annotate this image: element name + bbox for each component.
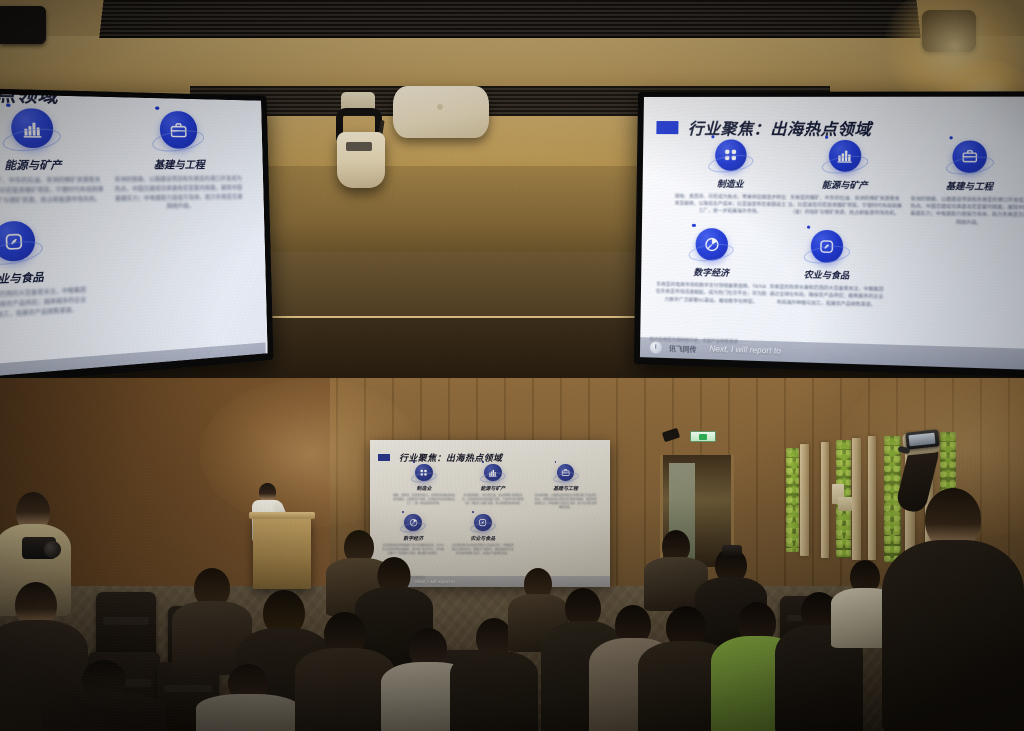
topic-digital-economy: 数字经济东南亚的电商市场和数字支付领域备受追捧。TikTok在东南亚市场迅速崛起… <box>651 227 772 306</box>
topic-infrastructure-engineering: 基建与工程非洲的铁路、公路建设项目和东南亚的港口开发成为热点。中国交建成功承建肯… <box>532 464 599 511</box>
orbit-ring <box>151 127 206 155</box>
plant-panel <box>786 448 799 552</box>
topic-icon-wrap <box>0 107 108 149</box>
slide-title: 行业聚焦：出海热点领域 <box>688 116 872 140</box>
accent-dot <box>692 224 695 227</box>
topic-label: 数字经济 <box>652 265 772 281</box>
topic-manufacturing: 制造业缅甸、墨西哥、印尼成为焦点，苹果供应链逐步转出来至越南，以降低生产成本；比… <box>390 464 457 507</box>
topic-label: 制造业 <box>390 485 457 492</box>
topic-icon-wrap <box>459 464 526 482</box>
topic-manufacturing: 制造业缅甸、墨西哥、印尼成为焦点，苹果供应链逐步转出来至越南，以降低生产成本；比… <box>670 139 791 217</box>
person-body <box>42 692 166 731</box>
mining-plant-icon <box>11 108 53 149</box>
left-ceiling-monitor: 行业聚焦：出海热点领域制造业缅甸、墨西哥、印尼成为焦点，苹果供应链逐步转出来至越… <box>0 88 273 386</box>
topic-digital-economy: 数字经济东南亚的电商市场和数字支付领域备受追捧。TikTok在东南亚市场迅速崛起… <box>380 514 447 557</box>
topic-label: 基建与工程 <box>532 485 599 492</box>
camera-lens-icon <box>44 541 61 558</box>
topic-body: 东南亚的镍矿、中东的石油、非洲的稀矿资源受关注。比亚迪在印尼投资镍矿项目，宁德时… <box>459 494 526 507</box>
podium-top <box>249 512 315 519</box>
title-accent-block <box>657 121 679 134</box>
wifi-access-point <box>393 86 489 138</box>
subtitle-caption-bar: 助力东南亚交通网络升级，农副产品销售渠道i讯飞同传Next, I will re… <box>640 337 1024 370</box>
wall-placard <box>838 497 852 511</box>
ptz-camera <box>337 132 385 188</box>
factory-modules-icon <box>714 139 746 171</box>
topic-label: 基建与工程 <box>906 178 1024 193</box>
ceiling-band <box>0 36 1024 92</box>
exit-sign <box>690 431 716 442</box>
topic-energy-minerals: 能源与矿产东南亚的镍矿、中东的石油、非洲的稀矿资源受关注。比亚迪在印尼投资镍矿项… <box>0 107 109 207</box>
slide-left: 行业聚焦：出海热点领域制造业缅甸、墨西哥、印尼成为焦点，苹果供应链逐步转出来至越… <box>0 94 266 378</box>
person-body <box>882 540 1024 731</box>
bridge-tunnel-icon <box>557 464 575 482</box>
leaf-shield-icon <box>0 221 35 263</box>
topic-icon-wrap <box>652 227 772 261</box>
topic-label: 能源与矿产 <box>0 156 109 173</box>
audience-member <box>48 660 160 731</box>
topic-energy-minerals: 能源与矿产东南亚的镍矿、中东的石油、非洲的稀矿资源受关注。比亚迪在印尼投资镍矿项… <box>459 464 526 507</box>
topic-agriculture-food: 农业与食品东南亚的热带水果和巴西的大豆备受关注，中粮集团通过全球化布局，确保农产… <box>449 514 516 557</box>
topic-label: 农业与食品 <box>0 266 91 290</box>
person-body <box>196 694 300 731</box>
slide-right: 行业聚焦：出海热点领域制造业缅甸、墨西哥、印尼成为焦点，苹果供应链逐步转出来至越… <box>640 97 1024 371</box>
topic-body: 东南亚的热带水果和巴西的大豆备受关注，中粮集团通过全球化布局，确保农产品供应；越… <box>765 284 888 310</box>
topic-label: 农业与食品 <box>765 267 888 283</box>
camera-lens-icon <box>346 142 372 151</box>
wood-slat <box>868 436 876 560</box>
accent-dot <box>482 461 484 463</box>
topic-icon-wrap <box>0 219 91 264</box>
topic-body: 东南亚的镍矿、中东的石油、非洲的稀矿资源受关注。比亚迪在印尼投资镍矿项目，宁德时… <box>0 177 109 207</box>
pie-chart-icon <box>695 228 727 260</box>
podium <box>253 517 311 589</box>
accent-dot <box>155 106 159 110</box>
topic-icon-wrap <box>107 110 246 149</box>
accent-dot <box>555 461 557 463</box>
orbit-ring <box>688 242 736 265</box>
topic-label: 数字经济 <box>380 535 447 542</box>
caption-previous-line: 助力东南亚交通网络升级，农副产品销售渠道 <box>640 336 1024 359</box>
topic-body: 东南亚的热带水果和巴西的大豆备受关注，中粮集团通过全球化布局，确保农产品供应；越… <box>0 287 92 324</box>
audience-member <box>200 664 296 731</box>
accent-dot <box>949 136 953 139</box>
accent-dot <box>6 103 10 107</box>
topic-body: 东南亚的电商市场和数字支付领域备受追捧。TikTok在东南亚市场迅速崛起，成为热… <box>651 281 771 306</box>
accent-dot <box>711 135 714 138</box>
conference-room-photo: 行业聚焦：出海热点领域制造业缅甸、墨西哥、印尼成为焦点，苹果供应链逐步转出来至越… <box>0 0 1024 731</box>
wood-slat <box>821 442 829 558</box>
accent-dot <box>807 226 810 229</box>
person-body <box>450 651 538 731</box>
accent-dot <box>402 511 404 513</box>
wood-slat <box>800 444 809 556</box>
factory-modules-icon <box>415 464 433 482</box>
topic-body: 非洲的铁路、公路建设项目和东南亚的港口开发成为热点。中国交建成功承建肯尼亚蒙内铁… <box>532 494 599 511</box>
ceiling-slat-panel <box>99 0 921 38</box>
orbit-ring <box>1 125 63 154</box>
topic-label: 农业与食品 <box>449 535 516 542</box>
orbit-ring <box>944 154 995 178</box>
wood-slat <box>852 438 861 560</box>
bridge-tunnel-icon <box>953 140 987 173</box>
mining-plant-icon <box>484 464 502 482</box>
right-monitor-screen: 行业聚焦：出海热点领域制造业缅甸、墨西哥、印尼成为焦点，苹果供应链逐步转出来至越… <box>640 97 1024 371</box>
topic-body: 非洲的铁路、公路建设项目和东南亚的港口开发成为热点。中国交建成功承建肯尼亚蒙内铁… <box>109 176 248 214</box>
topic-energy-minerals: 能源与矿产东南亚的镍矿、中东的石油、非洲的稀矿资源受关注。比亚迪在印尼投资镍矿项… <box>783 139 908 218</box>
person-body <box>295 648 395 731</box>
audience-member <box>300 612 390 731</box>
topic-icon-wrap <box>671 139 792 172</box>
topic-body: 缅甸、墨西哥、印尼成为焦点，苹果供应链逐步转出来至越南，以降低生产成本；比亚迪宣… <box>390 494 457 507</box>
topic-icon-wrap <box>380 514 447 532</box>
bridge-tunnel-icon <box>160 111 198 149</box>
topic-icon-wrap <box>906 140 1024 174</box>
topic-agriculture-food: 农业与食品东南亚的热带水果和巴西的大豆备受关注，中粮集团通过全球化布局，确保农产… <box>0 219 92 323</box>
orbit-ring <box>469 521 496 534</box>
topic-agriculture-food: 农业与食品东南亚的热带水果和巴西的大豆备受关注，中粮集团通过全球化布局，确保农产… <box>765 229 889 310</box>
accent-dot <box>472 511 474 513</box>
topic-icon-wrap <box>765 229 889 263</box>
topic-label: 能源与矿产 <box>783 177 907 192</box>
mining-plant-icon <box>829 139 862 172</box>
leaf-shield-icon <box>810 230 843 263</box>
orbit-ring <box>802 244 851 267</box>
orbit-ring <box>400 521 427 534</box>
topic-icon-wrap <box>449 514 516 532</box>
orbit-ring <box>707 152 755 175</box>
topic-body: 缅甸、墨西哥、印尼成为焦点，苹果供应链逐步转出来至越南，以降低生产成本；比亚迪宣… <box>670 193 791 217</box>
orbit-ring <box>820 153 869 177</box>
topic-label: 制造业 <box>670 176 790 190</box>
camera-device <box>722 545 742 558</box>
slide-title-row: 行业聚焦：出海热点领域 <box>378 451 503 464</box>
topic-body: 东南亚的热带水果和巴西的大豆备受关注，中粮集团通过全球化布局，确保农产品供应；越… <box>449 544 516 557</box>
topic-body: 东南亚的电商市场和数字支付领域备受追捧。TikTok在东南亚市场迅速崛起，成为热… <box>380 544 447 557</box>
orbit-ring <box>552 471 579 484</box>
slide-title-row: 行业聚焦：出海热点领域 <box>657 116 872 140</box>
audience-member-standing <box>888 488 1018 731</box>
orbit-ring <box>479 471 506 484</box>
track-light <box>922 10 976 52</box>
leaf-shield-icon <box>474 514 492 532</box>
accent-dot <box>413 461 415 463</box>
pie-chart-icon <box>404 514 422 532</box>
topic-label: 能源与矿产 <box>459 485 526 492</box>
right-ceiling-monitor: 行业聚焦：出海热点领域制造业缅甸、墨西哥、印尼成为焦点，苹果供应链逐步转出来至越… <box>634 91 1024 377</box>
left-monitor-screen: 行业聚焦：出海热点领域制造业缅甸、墨西哥、印尼成为焦点，苹果供应链逐步转出来至越… <box>0 94 268 378</box>
topic-icon-wrap <box>532 464 599 482</box>
topic-icon-wrap <box>390 464 457 482</box>
topic-label: 基建与工程 <box>108 156 246 172</box>
topic-body: 非洲的铁路、公路建设项目和东南亚的港口开发成为热点。中国交建成功承建肯尼亚蒙内铁… <box>905 196 1024 229</box>
topic-body: 东南亚的镍矿、中东的石油、非洲的稀矿资源受关注。比亚迪在印尼投资镍矿项目，宁德时… <box>783 194 907 218</box>
topic-infrastructure-engineering: 基建与工程非洲的铁路、公路建设项目和东南亚的港口开发成为热点。中国交建成功承建肯… <box>905 140 1024 229</box>
title-accent-block <box>378 454 390 461</box>
topic-infrastructure-engineering: 基建与工程非洲的铁路、公路建设项目和东南亚的港口开发成为热点。中国交建成功承建肯… <box>107 110 248 213</box>
orbit-ring <box>411 471 438 484</box>
track-light <box>0 6 46 44</box>
topic-icon-wrap <box>784 139 908 172</box>
